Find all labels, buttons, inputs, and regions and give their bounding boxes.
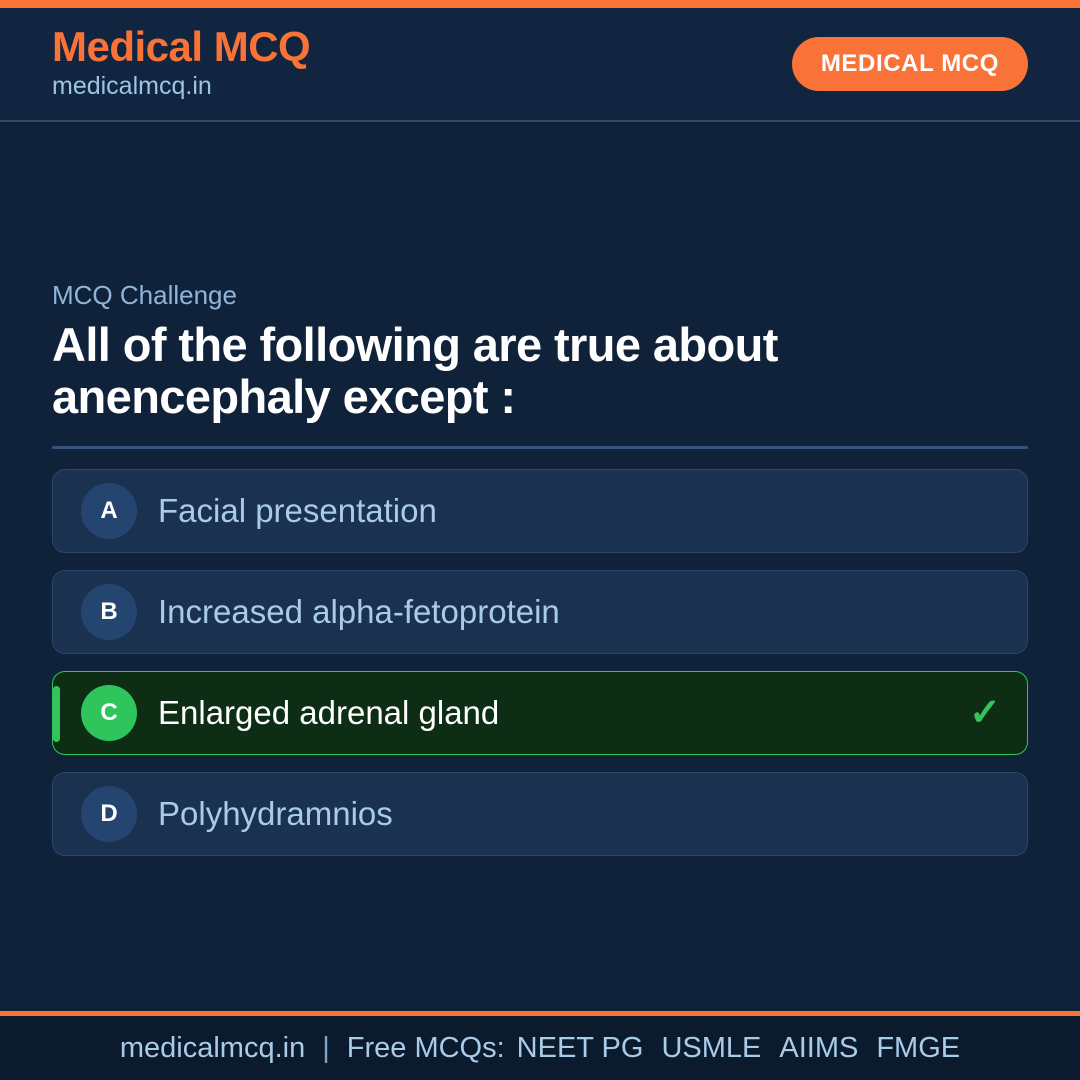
site-footer: medicalmcq.in | Free MCQs: NEET PGUSMLEA… <box>0 1011 1080 1080</box>
correct-answer-check-icon: ✓ <box>969 694 1001 732</box>
brand-title: Medical MCQ <box>52 25 310 69</box>
footer-exam-tag: FMGE <box>876 1034 960 1063</box>
question-eyebrow: MCQ Challenge <box>52 279 1028 313</box>
option-letter-badge: B <box>81 584 137 640</box>
top-accent-bar <box>0 0 1080 8</box>
footer-exam-tag: NEET PG <box>517 1034 644 1063</box>
option-row-a[interactable]: AFacial presentation <box>52 469 1028 553</box>
header-badge: MEDICAL MCQ <box>792 37 1028 91</box>
option-label: Enlarged adrenal gland <box>158 693 955 733</box>
footer-exam-tag: AIIMS <box>779 1034 858 1063</box>
option-accent-bar <box>53 686 60 742</box>
options-list: AFacial presentationBIncreased alpha-fet… <box>52 469 1028 856</box>
question-title: All of the following are true about anen… <box>52 319 1028 424</box>
question-divider <box>52 446 1028 449</box>
option-letter-badge: A <box>81 483 137 539</box>
footer-exam-list: NEET PGUSMLEAIIMSFMGE <box>505 1034 960 1063</box>
brand-domain: medicalmcq.in <box>52 71 310 102</box>
footer-separator: | <box>305 1034 347 1063</box>
brand-block: Medical MCQ medicalmcq.in <box>52 25 310 102</box>
option-row-d[interactable]: DPolyhydramnios <box>52 772 1028 856</box>
footer-free-label: Free MCQs: <box>347 1034 505 1063</box>
footer-site: medicalmcq.in <box>120 1034 305 1063</box>
option-label: Facial presentation <box>158 491 1001 531</box>
option-label: Increased alpha-fetoprotein <box>158 592 1001 632</box>
footer-exam-tag: USMLE <box>661 1034 761 1063</box>
main-content: MCQ Challenge All of the following are t… <box>0 124 1080 1011</box>
option-letter-badge: D <box>81 786 137 842</box>
option-label: Polyhydramnios <box>158 794 1001 834</box>
site-header: Medical MCQ medicalmcq.in MEDICAL MCQ <box>0 8 1080 122</box>
option-letter-badge: C <box>81 685 137 741</box>
option-row-c[interactable]: CEnlarged adrenal gland✓ <box>52 671 1028 755</box>
option-row-b[interactable]: BIncreased alpha-fetoprotein <box>52 570 1028 654</box>
